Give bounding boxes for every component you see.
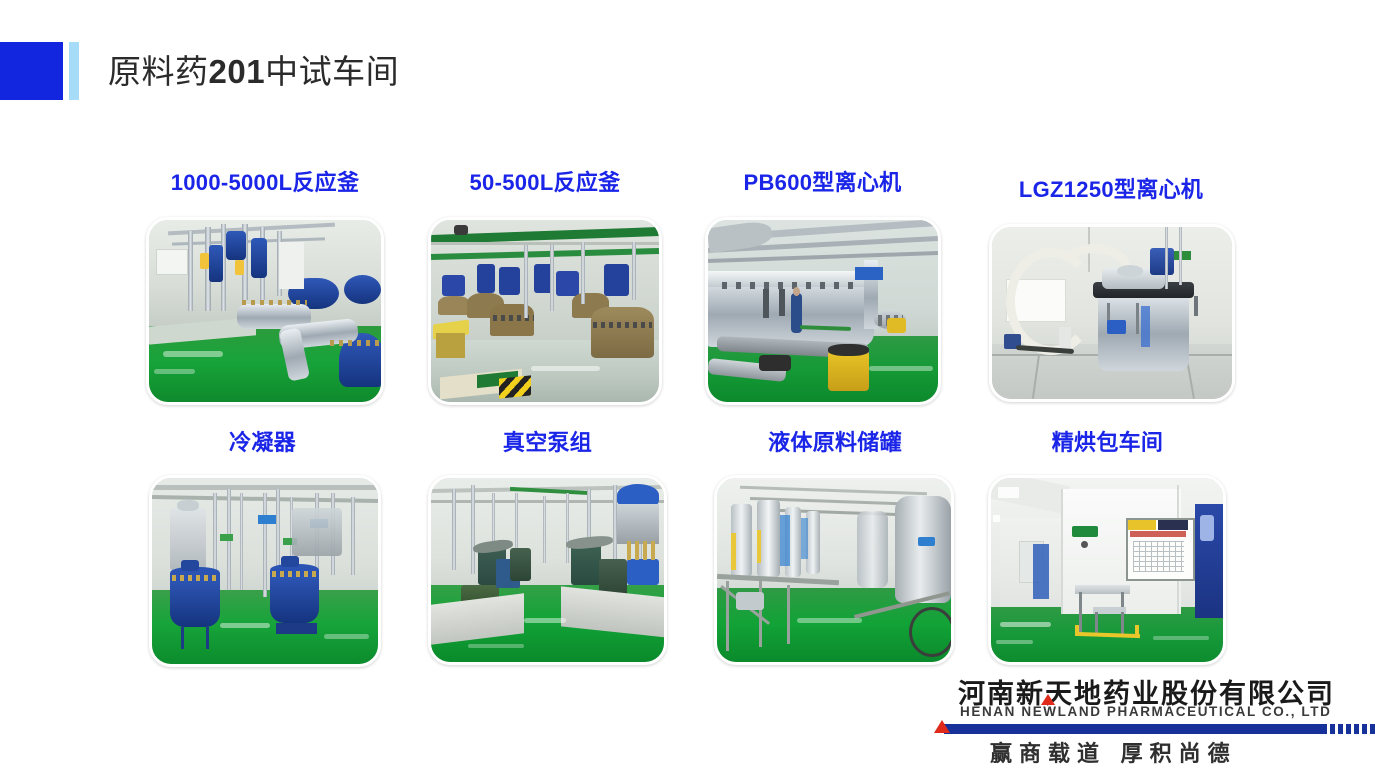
gallery-item-label: 液体原料储罐 bbox=[710, 425, 960, 457]
gallery-item-storage-tanks[interactable]: 液体原料储罐 bbox=[710, 425, 960, 670]
slide-canvas: 原料药201中试车间 1000-5000L反应釜 bbox=[0, 0, 1375, 775]
gallery-item-photo[interactable] bbox=[705, 217, 941, 405]
gallery-item-centrifuge-lgz1250[interactable]: LGZ1250型离心机 bbox=[985, 172, 1237, 407]
logo-rule bbox=[944, 724, 1322, 734]
gallery-item-photo[interactable] bbox=[714, 475, 954, 665]
gallery-item-photo[interactable] bbox=[149, 475, 381, 667]
logo-rule-dashes bbox=[1322, 724, 1375, 734]
gallery-item-photo[interactable] bbox=[428, 217, 662, 405]
gallery-item-label: 50-500L反应釜 bbox=[425, 165, 665, 197]
gallery-item-label: PB600型离心机 bbox=[700, 165, 945, 197]
gallery-item-reactor-small[interactable]: 50-500L反应釜 bbox=[425, 165, 665, 405]
gallery-item-label: 1000-5000L反应釜 bbox=[140, 165, 390, 197]
gallery-item-label: LGZ1250型离心机 bbox=[985, 172, 1237, 204]
gallery-item-label: 冷凝器 bbox=[140, 425, 385, 457]
logo-rule-triangle-icon bbox=[934, 720, 950, 733]
gallery-item-photo[interactable] bbox=[428, 475, 667, 665]
gallery-item-reactor-large[interactable]: 1000-5000L反应釜 bbox=[140, 165, 390, 405]
gallery-item-photo[interactable] bbox=[988, 475, 1226, 665]
equipment-gallery: 1000-5000L反应釜 bbox=[0, 0, 1375, 775]
gallery-item-photo[interactable] bbox=[989, 224, 1235, 402]
company-slogan: 赢商载道 厚积尚德 bbox=[990, 736, 1237, 768]
company-name-en: HENAN NEWLAND PHARMACEUTICAL CO., LTD bbox=[960, 704, 1331, 719]
gallery-item-packaging-workshop[interactable]: 精烘包车间 bbox=[985, 425, 1230, 670]
gallery-item-label: 真空泵组 bbox=[425, 425, 670, 457]
gallery-item-condenser[interactable]: 冷凝器 bbox=[140, 425, 385, 670]
gallery-item-centrifuge-pb600[interactable]: PB600型离心机 bbox=[700, 165, 945, 405]
gallery-item-label: 精烘包车间 bbox=[985, 425, 1230, 457]
gallery-item-vacuum-pumps[interactable]: 真空泵组 bbox=[425, 425, 670, 670]
gallery-item-photo[interactable] bbox=[146, 217, 384, 405]
company-logo: 河南新天地药业股份有限公司 HENAN NEWLAND PHARMACEUTIC… bbox=[930, 672, 1360, 772]
